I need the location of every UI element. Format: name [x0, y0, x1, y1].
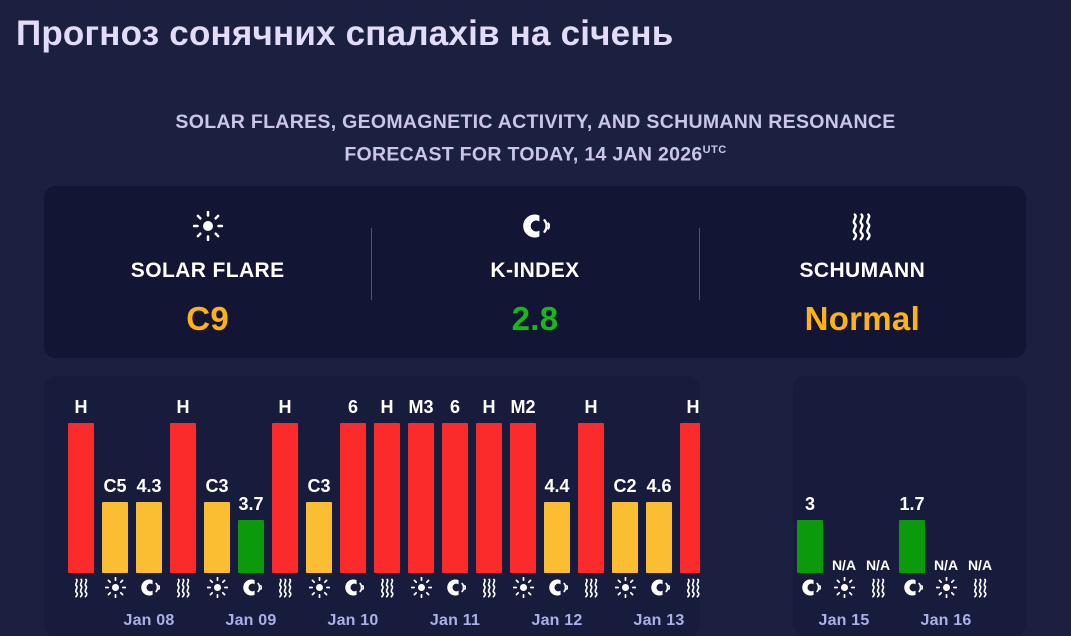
summary-panel: SOLAR FLAREC9K-INDEX2.8SCHUMANNNormal	[44, 186, 1026, 358]
bar-value-label: H	[177, 397, 190, 418]
schumann-icon	[847, 206, 877, 246]
schumann-icon	[963, 577, 997, 598]
bar-group: M24.4H	[506, 413, 608, 573]
sun-icon	[98, 577, 132, 598]
icon-row	[44, 575, 98, 599]
bar-value-label: H	[585, 397, 598, 418]
summary-card-k-index: K-INDEX2.8	[371, 186, 698, 358]
icon-row	[404, 575, 506, 599]
bar-slot-solar-flare[interactable]: N/A	[827, 413, 861, 573]
sun-icon	[404, 577, 438, 598]
bar-value-label: C3	[205, 476, 228, 497]
bar-value-label: 4.6	[646, 476, 671, 497]
sun-icon	[200, 577, 234, 598]
bar-k-index[interactable]	[136, 502, 162, 573]
bar-slot-k-index[interactable]: 3.7	[234, 413, 268, 573]
bar-k-index[interactable]	[238, 520, 264, 573]
schumann-icon	[268, 577, 302, 598]
magnet-icon	[132, 577, 166, 598]
sun-icon	[302, 577, 336, 598]
bar-schumann[interactable]	[680, 423, 700, 573]
bar-slot-schumann[interactable]: H	[268, 413, 302, 573]
subtitle-utc-sup: UTC	[703, 144, 727, 156]
bar-value-label: 4.4	[544, 476, 569, 497]
bar-value-label: 3.7	[238, 494, 263, 515]
magnet-icon	[540, 577, 574, 598]
bar-value-label: N/A	[934, 557, 958, 573]
bar-slot-solar-flare[interactable]: M3	[404, 413, 438, 573]
bar-slot-schumann[interactable]: H	[472, 413, 506, 573]
bar-group: C33.7H	[200, 413, 302, 573]
bar-solar-flare[interactable]	[204, 502, 230, 573]
magnet-icon	[438, 577, 472, 598]
bar-slot-schumann[interactable]: N/A	[963, 413, 997, 573]
icon-row	[608, 575, 700, 599]
magnet-icon	[520, 206, 550, 246]
bar-k-index[interactable]	[544, 502, 570, 573]
day-group-main: HJan 07C54.3HJan 08C33.7HJan 09C36HJan 1…	[44, 376, 700, 636]
bar-slot-solar-flare[interactable]: C2	[608, 413, 642, 573]
bar-slot-schumann[interactable]: H	[64, 413, 98, 573]
bar-k-index[interactable]	[340, 423, 366, 573]
bar-slot-k-index[interactable]: 6	[438, 413, 472, 573]
schumann-icon	[64, 577, 98, 598]
forecast-chart-panel-extra: 3N/AN/AJan 151.7N/AN/AJan 16	[793, 376, 1026, 636]
day-column[interactable]: M36HJan 11	[404, 376, 506, 636]
bar-schumann[interactable]	[476, 423, 502, 573]
icon-row	[200, 575, 302, 599]
sun-icon	[929, 577, 963, 598]
bar-slot-solar-flare[interactable]: N/A	[929, 413, 963, 573]
bar-value-label: 6	[450, 397, 460, 418]
magnet-icon	[895, 577, 929, 598]
bar-value-label: H	[75, 397, 88, 418]
bar-k-index[interactable]	[442, 423, 468, 573]
bar-slot-schumann[interactable]: N/A	[861, 413, 895, 573]
bar-value-label: C5	[103, 476, 126, 497]
date-label: Jan 10	[302, 612, 404, 630]
bar-slot-k-index[interactable]: 3	[793, 413, 827, 573]
magnet-icon	[336, 577, 370, 598]
bar-value-label: H	[687, 397, 700, 418]
bar-slot-schumann[interactable]: H	[370, 413, 404, 573]
bar-group: C24.6H	[608, 413, 700, 573]
day-column[interactable]: 3N/AN/AJan 15	[793, 376, 895, 636]
day-column[interactable]: C33.7HJan 09	[200, 376, 302, 636]
bar-schumann[interactable]	[374, 423, 400, 573]
bar-schumann[interactable]	[170, 423, 196, 573]
forecast-subtitle: SOLAR FLARES, GEOMAGNETIC ACTIVITY, AND …	[0, 108, 1071, 169]
bar-schumann[interactable]	[68, 423, 94, 573]
date-label: Jan 16	[895, 612, 997, 630]
day-column[interactable]: C54.3HJan 08	[98, 376, 200, 636]
day-column[interactable]: M24.4HJan 12	[506, 376, 608, 636]
bar-value-label: N/A	[832, 557, 856, 573]
schumann-icon	[861, 577, 895, 598]
day-column[interactable]: C24.6HJan 13	[608, 376, 700, 636]
bar-value-label: 3	[805, 494, 815, 515]
bar-value-label: C2	[613, 476, 636, 497]
page-title: Прогноз сонячних спалахів на січень	[16, 14, 673, 54]
bar-slot-k-index[interactable]: 4.4	[540, 413, 574, 573]
date-label: Jan 12	[506, 612, 608, 630]
summary-card-schumann: SCHUMANNNormal	[699, 186, 1026, 358]
schumann-icon	[574, 577, 608, 598]
day-column[interactable]: HJan 07	[44, 376, 98, 636]
bar-value-label: 1.7	[899, 494, 924, 515]
bar-solar-flare[interactable]	[102, 502, 128, 573]
bar-slot-solar-flare[interactable]: C3	[302, 413, 336, 573]
bar-schumann[interactable]	[578, 423, 604, 573]
bar-value-label: H	[483, 397, 496, 418]
date-label: Jan 15	[793, 612, 895, 630]
bar-slot-schumann[interactable]: H	[676, 413, 700, 573]
icon-row	[506, 575, 608, 599]
subtitle-line-2-text: FORECAST FOR TODAY, 14 JAN 2026	[344, 144, 702, 166]
icon-row	[895, 575, 997, 599]
magnet-icon	[234, 577, 268, 598]
summary-card-label: K-INDEX	[490, 259, 579, 283]
date-label: Jan 08	[98, 612, 200, 630]
bar-value-label: N/A	[866, 557, 890, 573]
bar-solar-flare[interactable]	[408, 423, 434, 573]
summary-card-value: C9	[186, 300, 229, 338]
sun-icon	[193, 206, 223, 246]
bar-slot-k-index[interactable]	[44, 413, 64, 573]
bar-slot-schumann[interactable]: H	[574, 413, 608, 573]
bar-k-index[interactable]	[797, 520, 823, 573]
sun-icon	[827, 577, 861, 598]
bar-group: 3N/AN/A	[793, 413, 895, 573]
bar-slot-solar-flare[interactable]: C3	[200, 413, 234, 573]
bar-value-label: 4.3	[136, 476, 161, 497]
magnet-icon	[793, 577, 827, 598]
date-label: Jan 09	[200, 612, 302, 630]
bar-schumann[interactable]	[272, 423, 298, 573]
bar-group: M36H	[404, 413, 506, 573]
sun-icon	[608, 577, 642, 598]
summary-card-value: Normal	[805, 300, 921, 338]
day-column[interactable]: 1.7N/AN/AJan 16	[895, 376, 997, 636]
bar-group: C54.3H	[98, 413, 200, 573]
bar-value-label: H	[381, 397, 394, 418]
schumann-icon	[370, 577, 404, 598]
bar-solar-flare[interactable]	[612, 502, 638, 573]
bar-slot-k-index[interactable]: 1.7	[895, 413, 929, 573]
icon-row	[98, 575, 200, 599]
bar-k-index[interactable]	[899, 520, 925, 573]
day-column[interactable]: C36HJan 10	[302, 376, 404, 636]
subtitle-line-2: FORECAST FOR TODAY, 14 JAN 2026UTC	[0, 136, 1071, 169]
bar-value-label: H	[279, 397, 292, 418]
bar-slot-k-index[interactable]: 4.3	[132, 413, 166, 573]
bar-value-label: M3	[408, 397, 433, 418]
summary-card-label: SCHUMANN	[799, 259, 925, 283]
bar-slot-solar-flare[interactable]: M2	[506, 413, 540, 573]
day-group-extra: 3N/AN/AJan 151.7N/AN/AJan 16	[793, 376, 997, 636]
date-label: Jan 11	[404, 612, 506, 630]
bar-slot-k-index[interactable]: 4.6	[642, 413, 676, 573]
bar-group: H	[44, 413, 98, 573]
forecast-chart-panel-main: HJan 07C54.3HJan 08C33.7HJan 09C36HJan 1…	[44, 376, 700, 636]
bar-k-index[interactable]	[646, 502, 672, 573]
bar-slot-schumann[interactable]: H	[166, 413, 200, 573]
schumann-icon	[166, 577, 200, 598]
schumann-icon	[676, 577, 700, 598]
bar-value-label: N/A	[968, 557, 992, 573]
subtitle-line-1: SOLAR FLARES, GEOMAGNETIC ACTIVITY, AND …	[0, 108, 1071, 136]
summary-card-solar-flare: SOLAR FLAREC9	[44, 186, 371, 358]
bar-group: 1.7N/AN/A	[895, 413, 997, 573]
bar-slot-solar-flare[interactable]: C5	[98, 413, 132, 573]
icon-row	[793, 575, 895, 599]
magnet-icon	[642, 577, 676, 598]
sun-icon	[506, 577, 540, 598]
summary-card-label: SOLAR FLARE	[131, 259, 285, 283]
date-label: Jan 13	[608, 612, 700, 630]
bar-slot-k-index[interactable]: 6	[336, 413, 370, 573]
bar-value-label: M2	[510, 397, 535, 418]
bar-solar-flare[interactable]	[510, 423, 536, 573]
icon-row	[302, 575, 404, 599]
bar-value-label: 6	[348, 397, 358, 418]
summary-card-value: 2.8	[512, 300, 559, 338]
bar-solar-flare[interactable]	[306, 502, 332, 573]
schumann-icon	[472, 577, 506, 598]
bar-group: C36H	[302, 413, 404, 573]
bar-value-label: C3	[307, 476, 330, 497]
